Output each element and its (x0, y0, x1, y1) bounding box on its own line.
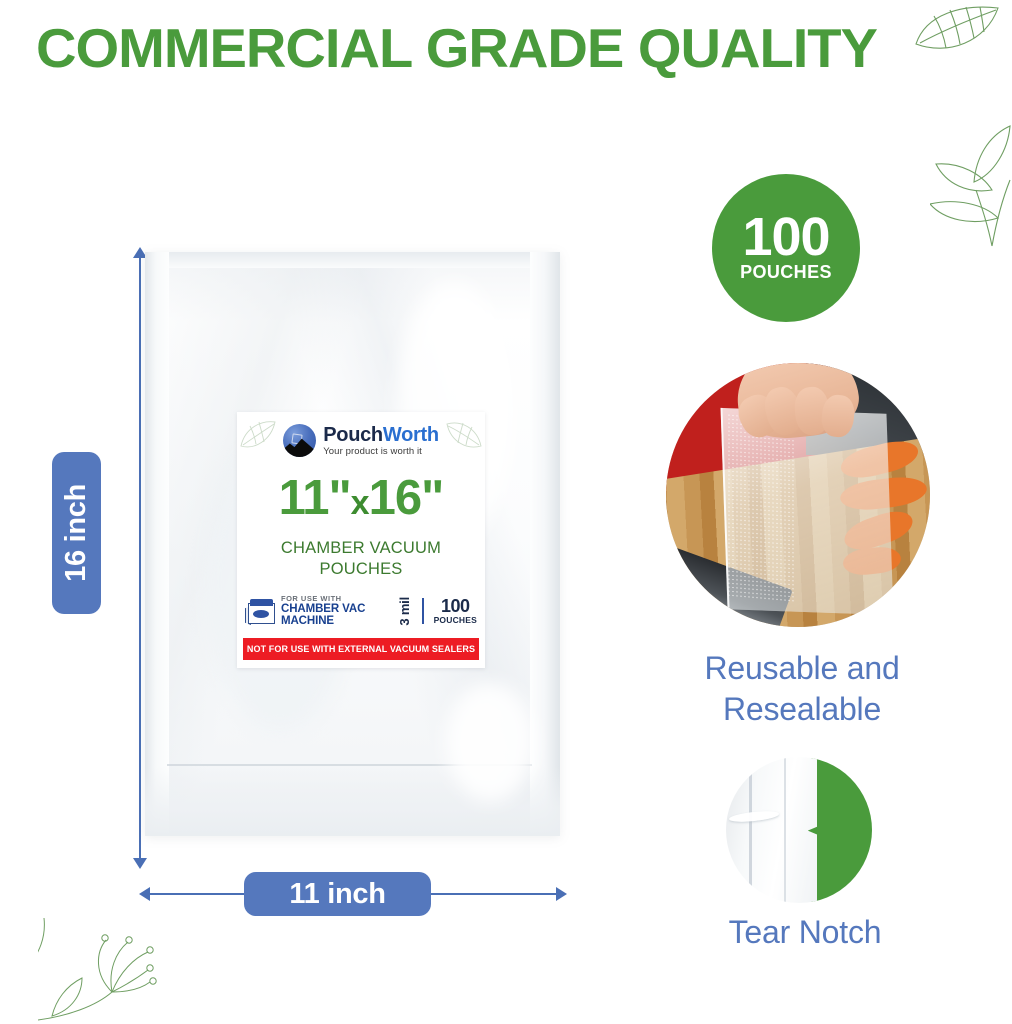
tear-notch-photo (726, 757, 872, 903)
use-with-machine: CHAMBER VAC MACHINE (281, 603, 391, 627)
botanical-decoration-bottom-left (38, 908, 243, 1024)
no-entry-icon-right (480, 643, 485, 656)
product-type: CHAMBER VACUUM POUCHES (237, 538, 485, 579)
reusable-resealable-photo (666, 363, 930, 627)
size-multiplier: x (351, 484, 369, 522)
thickness-label: 3 mil (397, 597, 412, 626)
width-dimension-label: 11 inch (289, 878, 385, 911)
pouch-count-badge: 100 POUCHES (712, 174, 860, 322)
warning-banner: NOT FOR USE WITH EXTERNAL VACUUM SEALERS (243, 638, 479, 660)
brand-tagline: Your product is worth it (323, 447, 439, 457)
label-count-label: POUCHES (434, 616, 477, 625)
spec-divider (422, 598, 424, 624)
brand-name: PouchWorth (323, 425, 439, 445)
feature-tear-notch-label: Tear Notch (660, 912, 950, 953)
feature-reusable-label: Reusable and Resealable (640, 648, 964, 730)
warning-text: NOT FOR USE WITH EXTERNAL VACUUM SEALERS (247, 644, 475, 654)
label-count-number: 100 (434, 597, 477, 615)
brand-logo: PouchWorth Your product is worth it (237, 424, 485, 457)
label-spec-row: FOR USE WITH CHAMBER VAC MACHINE 3 mil 1… (245, 594, 477, 628)
label-pouch-count: 100 POUCHES (434, 597, 477, 625)
badge-count-label: POUCHES (740, 262, 832, 283)
no-entry-icon-left (237, 643, 242, 656)
brand-name-part2: Worth (383, 424, 439, 446)
product-type-line1: CHAMBER VACUUM (237, 538, 485, 559)
size-width: 11" (279, 471, 351, 525)
brand-name-part1: Pouch (323, 424, 383, 446)
height-dimension-label: 16 inch (60, 484, 93, 582)
product-infographic: COMMERCIAL GRADE QUALITY (0, 0, 1012, 1024)
size-height: 16" (369, 471, 444, 525)
chamber-vac-machine-icon (245, 598, 275, 624)
height-dimension-arrow (139, 256, 141, 860)
pouch-label: PouchWorth Your product is worth it 11"x… (237, 412, 485, 668)
page-title: COMMERCIAL GRADE QUALITY (36, 20, 995, 78)
product-size: 11"x16" (237, 474, 485, 523)
leaf-decoration-right (930, 120, 1012, 250)
badge-count-number: 100 (742, 213, 829, 262)
product-type-line2: POUCHES (237, 559, 485, 580)
use-with-caption: FOR USE WITH (281, 595, 391, 603)
mountain-logo-icon (283, 424, 316, 457)
width-dimension-badge: 11 inch (244, 872, 431, 916)
height-dimension-badge: 16 inch (52, 452, 101, 614)
